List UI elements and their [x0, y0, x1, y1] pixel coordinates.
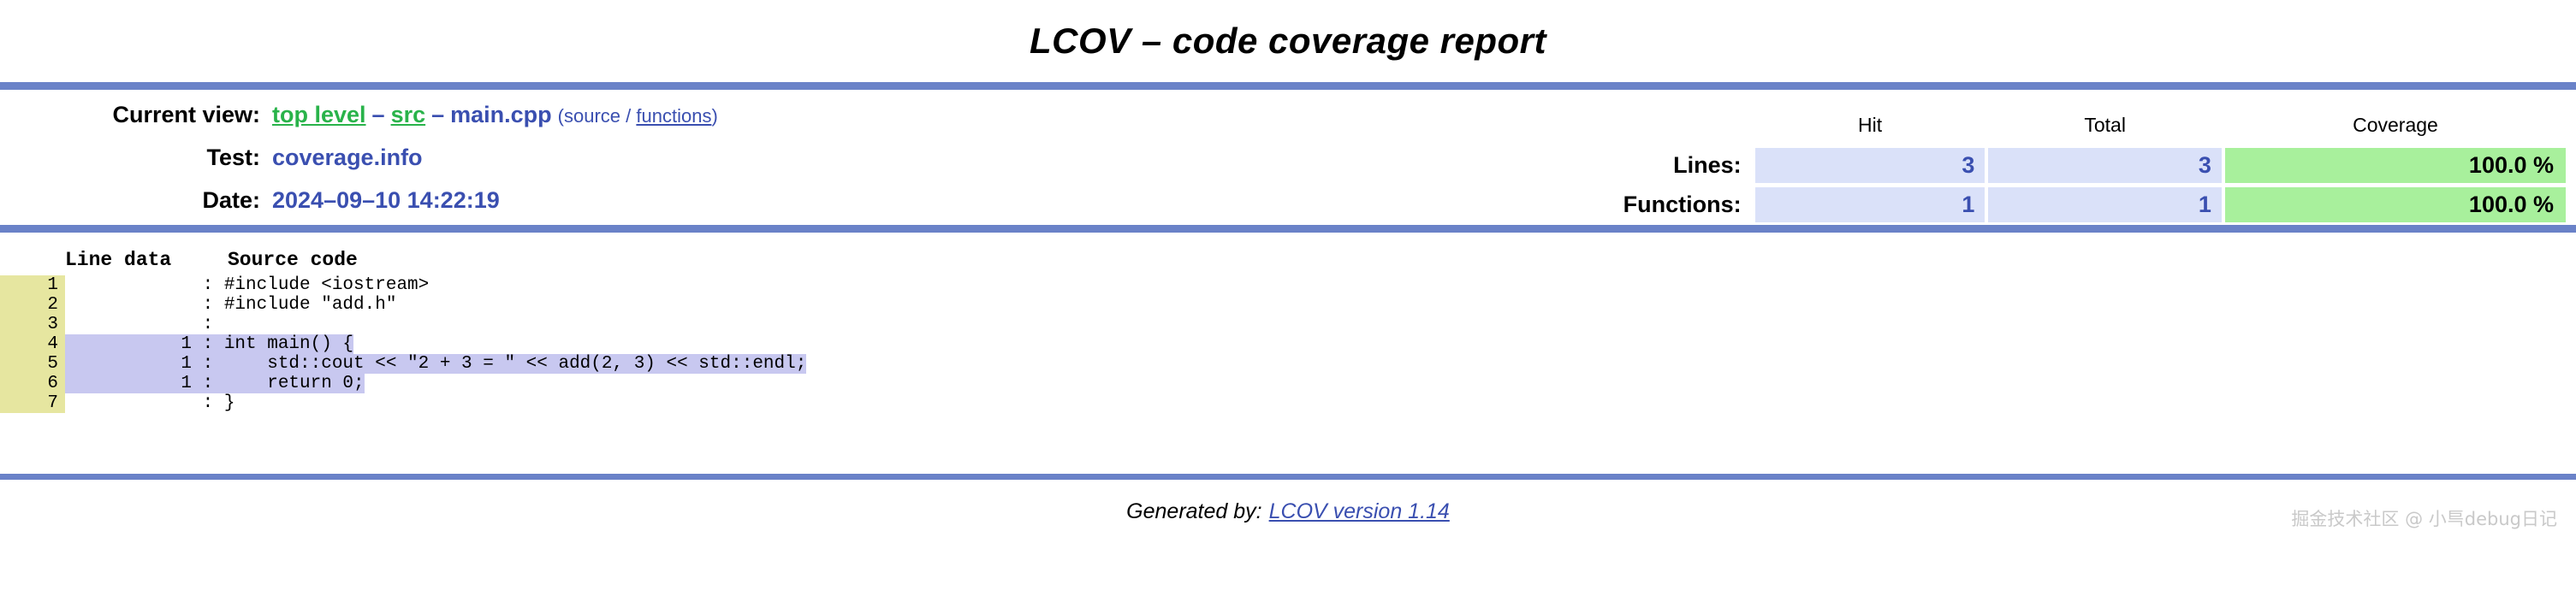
line-separator: :: [192, 354, 224, 374]
coverage-lines-total: 3: [1988, 148, 2221, 183]
date-value: 2024–09–10 14:22:19: [272, 187, 500, 214]
coverage-header-hit: Hit: [1755, 106, 1985, 144]
code-line: 2 : #include "add.h": [0, 295, 2576, 315]
line-source-text: return 0;: [224, 374, 365, 393]
breadcrumb-view-slash: /: [620, 105, 636, 127]
line-number: 7: [0, 393, 65, 413]
code-line: 41 : int main() {: [0, 334, 2576, 354]
line-number: 6: [0, 374, 65, 393]
current-view-row: Current view: top level–src–main.cpp(sou…: [34, 102, 1506, 145]
generated-by-label: Generated by:: [1126, 499, 1261, 524]
table-row: Lines: 3 3 100.0 %: [1510, 148, 2566, 183]
breadcrumb-separator-2: –: [425, 102, 450, 127]
code-line-uncovered: : }: [65, 393, 234, 413]
coverage-functions-percent: 100.0 %: [2225, 187, 2566, 222]
footer-top-rule: [0, 474, 2576, 480]
test-row: Test: coverage.info: [34, 145, 1506, 187]
coverage-lines-hit: 3: [1755, 148, 1985, 183]
page-footer: Generated by: LCOV version 1.14 掘金技术社区 @…: [0, 480, 2576, 543]
lcov-version-link[interactable]: LCOV version 1.14: [1262, 499, 1450, 524]
line-hit-count: 1: [65, 334, 192, 354]
line-separator: :: [192, 295, 224, 315]
line-hit-count: 1: [65, 354, 192, 374]
date-label: Date:: [34, 187, 272, 214]
breadcrumb-link-src[interactable]: src: [391, 102, 426, 127]
coverage-summary-table: Hit Total Coverage Lines: 3 3 100.0 % Fu…: [1506, 102, 2569, 227]
line-separator: :: [192, 393, 224, 413]
code-line: 3 :: [0, 315, 2576, 334]
coverage-functions-total: 1: [1988, 187, 2221, 222]
table-row: Functions: 1 1 100.0 %: [1510, 187, 2566, 222]
code-line: 7 : }: [0, 393, 2576, 413]
code-line-uncovered: :: [65, 315, 224, 334]
current-view-label: Current view:: [34, 102, 272, 128]
coverage-header-spacer: [1510, 106, 1752, 144]
report-meta: Current view: top level–src–main.cpp(sou…: [0, 102, 1506, 230]
date-row: Date: 2024–09–10 14:22:19: [34, 187, 1506, 230]
breadcrumb-open-paren: (: [552, 105, 564, 127]
page-title-bar: LCOV – code coverage report: [0, 0, 2576, 82]
code-line-uncovered: : #include "add.h": [65, 295, 396, 315]
line-number: 5: [0, 354, 65, 374]
coverage-row-label-lines: Lines:: [1510, 148, 1752, 183]
line-separator: :: [192, 275, 224, 295]
line-number: 1: [0, 275, 65, 295]
line-source-text: #include <iostream>: [224, 275, 429, 295]
line-hit-count: 1: [65, 374, 192, 393]
coverage-header-total: Total: [1988, 106, 2221, 144]
breadcrumb-link-top-level[interactable]: top level: [272, 102, 366, 127]
line-separator: :: [192, 315, 224, 334]
code-line-covered: 1 : int main() {: [65, 334, 353, 354]
breadcrumb-close-paren: ): [711, 105, 717, 127]
coverage-header-row: Hit Total Coverage: [1510, 106, 2566, 144]
test-label: Test:: [34, 145, 272, 171]
source-header-line-data: Line data: [65, 245, 193, 275]
code-line: 61 : return 0;: [0, 374, 2576, 393]
line-number: 2: [0, 295, 65, 315]
code-line-uncovered: : #include <iostream>: [65, 275, 429, 295]
line-source-text: int main() {: [224, 334, 353, 354]
coverage-functions-hit: 1: [1755, 187, 1985, 222]
source-listing-header: Line dataSource code: [0, 245, 2576, 275]
code-line: 51 : std::cout << "2 + 3 = " << add(2, 3…: [0, 354, 2576, 374]
breadcrumb-view-functions[interactable]: functions: [636, 105, 711, 127]
code-lines-container: 1 : #include <iostream>2 : #include "add…: [0, 275, 2576, 413]
line-number: 3: [0, 315, 65, 334]
code-line: 1 : #include <iostream>: [0, 275, 2576, 295]
line-number: 4: [0, 334, 65, 354]
line-separator: :: [192, 334, 224, 354]
source-listing: Line dataSource code 1 : #include <iostr…: [0, 233, 2576, 474]
page-title: LCOV – code coverage report: [1030, 21, 1546, 62]
coverage-lines-percent: 100.0 %: [2225, 148, 2566, 183]
line-separator: :: [192, 374, 224, 393]
breadcrumb-current-file: main.cpp: [450, 102, 552, 127]
code-line-covered: 1 : return 0;: [65, 374, 365, 393]
breadcrumb-separator-1: –: [366, 102, 391, 127]
breadcrumb-view-source: source: [564, 105, 620, 127]
test-value: coverage.info: [272, 145, 423, 171]
source-header-source-code: Source code: [193, 245, 358, 275]
coverage-header-coverage: Coverage: [2225, 106, 2566, 144]
coverage-row-label-functions: Functions:: [1510, 187, 1752, 222]
code-line-covered: 1 : std::cout << "2 + 3 = " << add(2, 3)…: [65, 354, 806, 374]
header-top-rule: [0, 82, 2576, 90]
report-summary-band: Current view: top level–src–main.cpp(sou…: [0, 90, 2576, 225]
watermark: 掘金技术社区 @ 小巪debug日记: [2291, 505, 2557, 531]
coverage-summary-table-wrap: Hit Total Coverage Lines: 3 3 100.0 % Fu…: [1506, 102, 2576, 227]
breadcrumb: top level–src–main.cpp(source / function…: [272, 102, 718, 128]
line-source-text: #include "add.h": [224, 295, 397, 315]
line-source-text: }: [224, 393, 235, 413]
line-source-text: std::cout << "2 + 3 = " << add(2, 3) << …: [224, 354, 807, 374]
